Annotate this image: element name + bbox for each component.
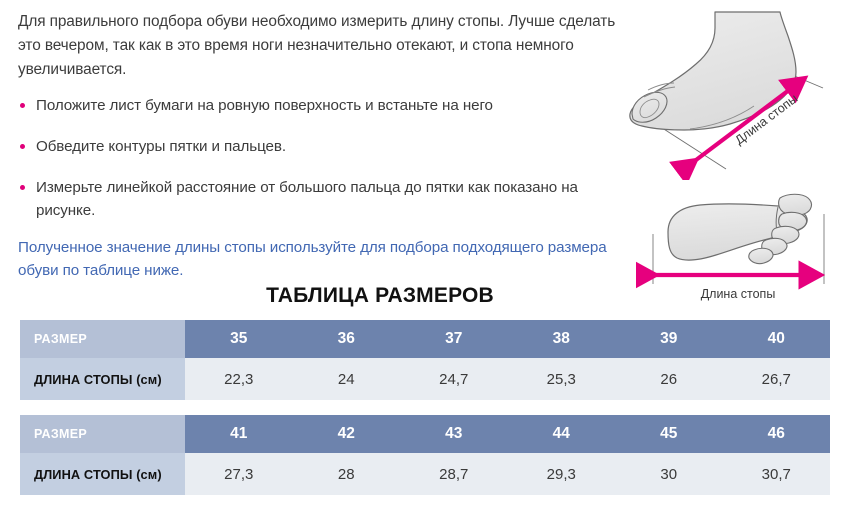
table-cell-length: 28,7 bbox=[400, 453, 508, 495]
table-cell-length: 22,3 bbox=[185, 358, 293, 400]
foot-side-view-illustration: Длина стопы bbox=[618, 2, 851, 180]
bullet-dot-icon bbox=[20, 103, 25, 108]
table-header-size-value: 39 bbox=[615, 320, 723, 358]
table-cell-length: 30,7 bbox=[723, 453, 831, 495]
measurement-steps-list: Положите лист бумаги на ровную поверхнос… bbox=[18, 94, 618, 222]
page-title: ТАБЛИЦА РАЗМЕРОВ bbox=[20, 284, 740, 308]
table-cell-length: 29,3 bbox=[508, 453, 616, 495]
table-header-size-value: 44 bbox=[508, 415, 616, 453]
table-row: РАЗМЕР 41 42 43 44 45 46 bbox=[20, 415, 830, 453]
size-guide-page: Для правильного подбора обуви необходимо… bbox=[0, 0, 851, 509]
foot-length-caption: Длина стопы bbox=[701, 287, 776, 301]
table-cell-length: 24 bbox=[293, 358, 401, 400]
table-row-length-label: ДЛИНА СТОПЫ (см) bbox=[20, 453, 185, 495]
table-header-size-value: 46 bbox=[723, 415, 831, 453]
note-paragraph: Полученное значение длины стопы использу… bbox=[18, 236, 618, 282]
step-text: Обведите контуры пятки и пальцев. bbox=[36, 138, 286, 155]
intro-paragraph: Для правильного подбора обуви необходимо… bbox=[18, 10, 618, 82]
bullet-dot-icon bbox=[20, 185, 25, 190]
table-cell-length: 30 bbox=[615, 453, 723, 495]
table-header-size-value: 37 bbox=[400, 320, 508, 358]
table-header-size-label: РАЗМЕР bbox=[20, 320, 185, 358]
size-table-1: РАЗМЕР 35 36 37 38 39 40 ДЛИНА СТОПЫ (см… bbox=[20, 320, 830, 400]
table-header-size-value: 43 bbox=[400, 415, 508, 453]
list-item: Обведите контуры пятки и пальцев. bbox=[18, 135, 618, 158]
table-cell-length: 26 bbox=[615, 358, 723, 400]
table-header-size-value: 40 bbox=[723, 320, 831, 358]
list-item: Положите лист бумаги на ровную поверхнос… bbox=[18, 94, 618, 117]
table-header-size-value: 45 bbox=[615, 415, 723, 453]
foot-sole-view-illustration: Длина стопы bbox=[636, 180, 851, 305]
table-header-size-value: 36 bbox=[293, 320, 401, 358]
sole-outline-icon bbox=[668, 194, 811, 263]
bullet-dot-icon bbox=[20, 144, 25, 149]
table-header-size-label: РАЗМЕР bbox=[20, 415, 185, 453]
table-row-length-label: ДЛИНА СТОПЫ (см) bbox=[20, 358, 185, 400]
table-header-size-value: 35 bbox=[185, 320, 293, 358]
table-header-size-value: 38 bbox=[508, 320, 616, 358]
table-row: ДЛИНА СТОПЫ (см) 27,3 28 28,7 29,3 30 30… bbox=[20, 453, 830, 495]
table-cell-length: 26,7 bbox=[723, 358, 831, 400]
table-cell-length: 24,7 bbox=[400, 358, 508, 400]
instructions-panel: Для правильного подбора обуви необходимо… bbox=[18, 10, 618, 282]
table-cell-length: 25,3 bbox=[508, 358, 616, 400]
size-table-2: РАЗМЕР 41 42 43 44 45 46 ДЛИНА СТОПЫ (см… bbox=[20, 415, 830, 495]
list-item: Измерьте линейкой расстояние от большого… bbox=[18, 176, 618, 222]
table-row: ДЛИНА СТОПЫ (см) 22,3 24 24,7 25,3 26 26… bbox=[20, 358, 830, 400]
table-cell-length: 28 bbox=[293, 453, 401, 495]
step-text: Положите лист бумаги на ровную поверхнос… bbox=[36, 97, 493, 114]
table-header-size-value: 41 bbox=[185, 415, 293, 453]
table-row: РАЗМЕР 35 36 37 38 39 40 bbox=[20, 320, 830, 358]
table-cell-length: 27,3 bbox=[185, 453, 293, 495]
table-header-size-value: 42 bbox=[293, 415, 401, 453]
step-text: Измерьте линейкой расстояние от большого… bbox=[36, 179, 578, 219]
